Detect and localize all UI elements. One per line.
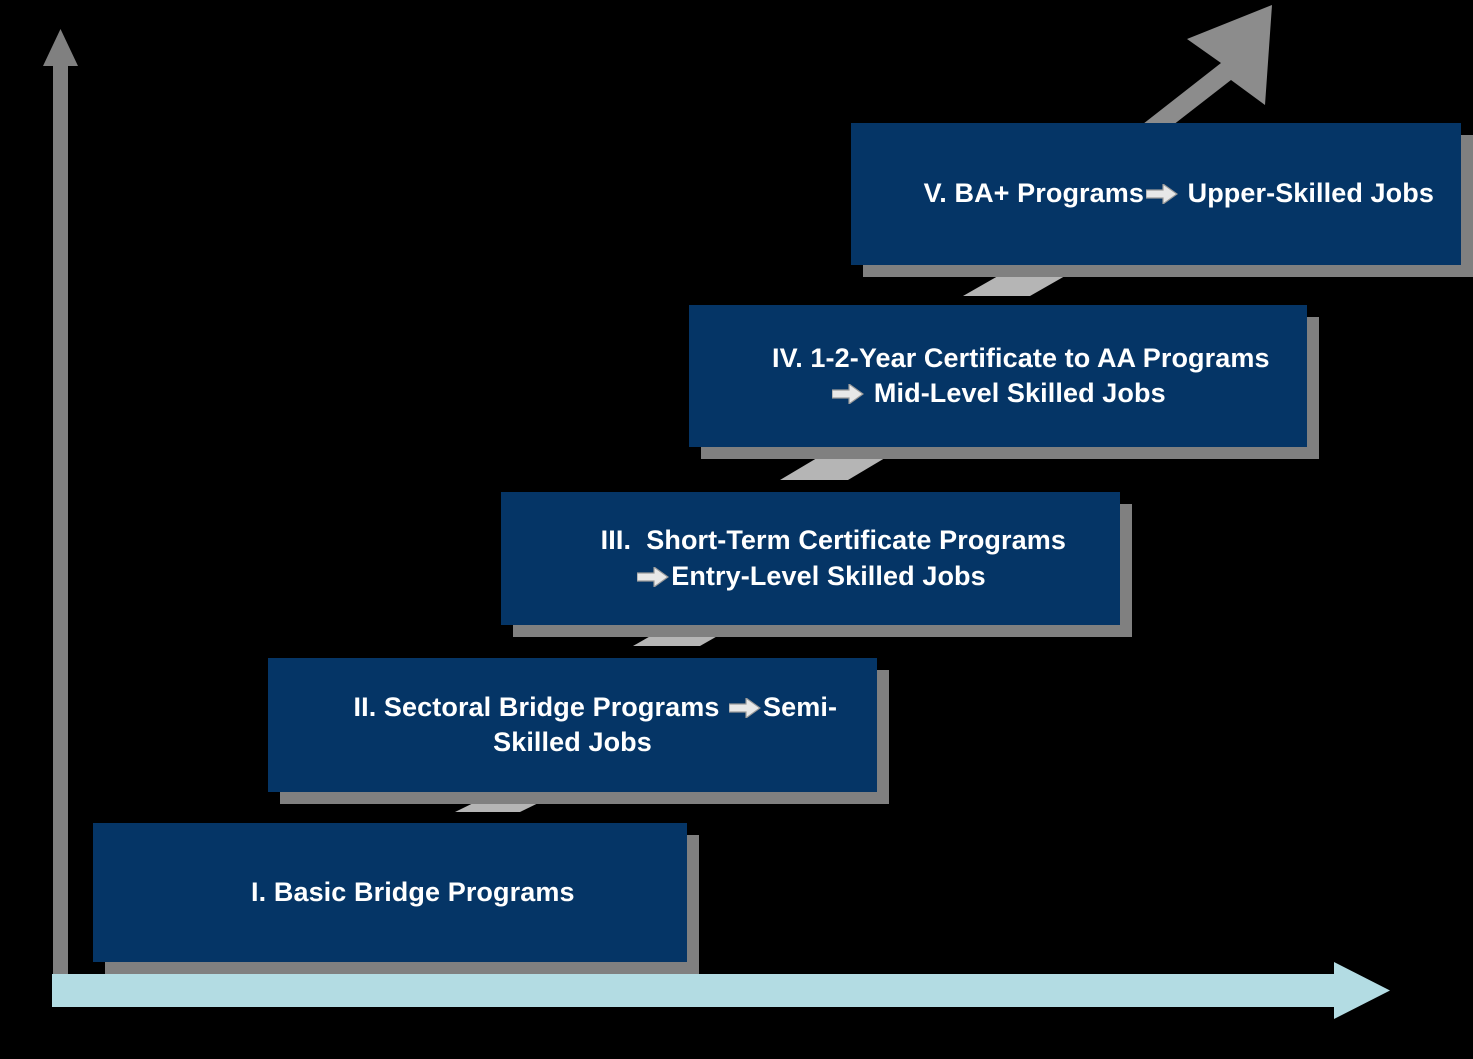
step-box-level-4[interactable]: IV. 1-2-Year Certificate to AA Programs … xyxy=(689,305,1307,447)
step-line-1-text: I. Basic Bridge Programs xyxy=(251,877,575,907)
step-line-1-text: III. Short-Term Certificate Programs xyxy=(601,525,1066,555)
step-line-1-text: V. BA+ Programs xyxy=(924,178,1144,208)
step-box-level-1[interactable]: I. Basic Bridge Programs xyxy=(93,823,687,962)
step-line-1-tail: Upper-Skilled Jobs xyxy=(1180,178,1434,208)
right-arrow-icon xyxy=(1146,184,1178,204)
step-label-level-3: III. Short-Term Certificate ProgramsEntr… xyxy=(541,488,1080,628)
step-box-level-2[interactable]: II. Sectoral Bridge Programs Semi-Skille… xyxy=(268,658,877,792)
step-line-1-text: IV. 1-2-Year Certificate to AA Programs xyxy=(772,343,1270,373)
right-arrow-icon xyxy=(832,384,864,404)
step-box-level-5[interactable]: V. BA+ Programs Upper-Skilled Jobs xyxy=(851,123,1461,265)
step-line-1-tail: Semi- xyxy=(763,692,837,722)
right-arrow-icon xyxy=(637,567,669,587)
step-line-1-text: II. Sectoral Bridge Programs xyxy=(354,692,728,722)
step-line-2-text: Skilled Jobs xyxy=(493,727,652,757)
right-arrow-icon xyxy=(729,698,761,718)
step-label-level-4: IV. 1-2-Year Certificate to AA Programs … xyxy=(712,306,1283,446)
step-label-level-1: I. Basic Bridge Programs xyxy=(191,840,588,945)
step-line-2-text: Entry-Level Skilled Jobs xyxy=(671,561,986,591)
step-box-level-3[interactable]: III. Short-Term Certificate ProgramsEntr… xyxy=(501,492,1120,625)
step-line-2-text: Mid-Level Skilled Jobs xyxy=(874,378,1166,408)
step-label-level-2: II. Sectoral Bridge Programs Semi-Skille… xyxy=(294,655,851,795)
step-label-level-5: V. BA+ Programs Upper-Skilled Jobs xyxy=(864,141,1448,246)
career-pathway-diagram: I. Basic Bridge Programs II. Sectoral Br… xyxy=(0,0,1473,1059)
